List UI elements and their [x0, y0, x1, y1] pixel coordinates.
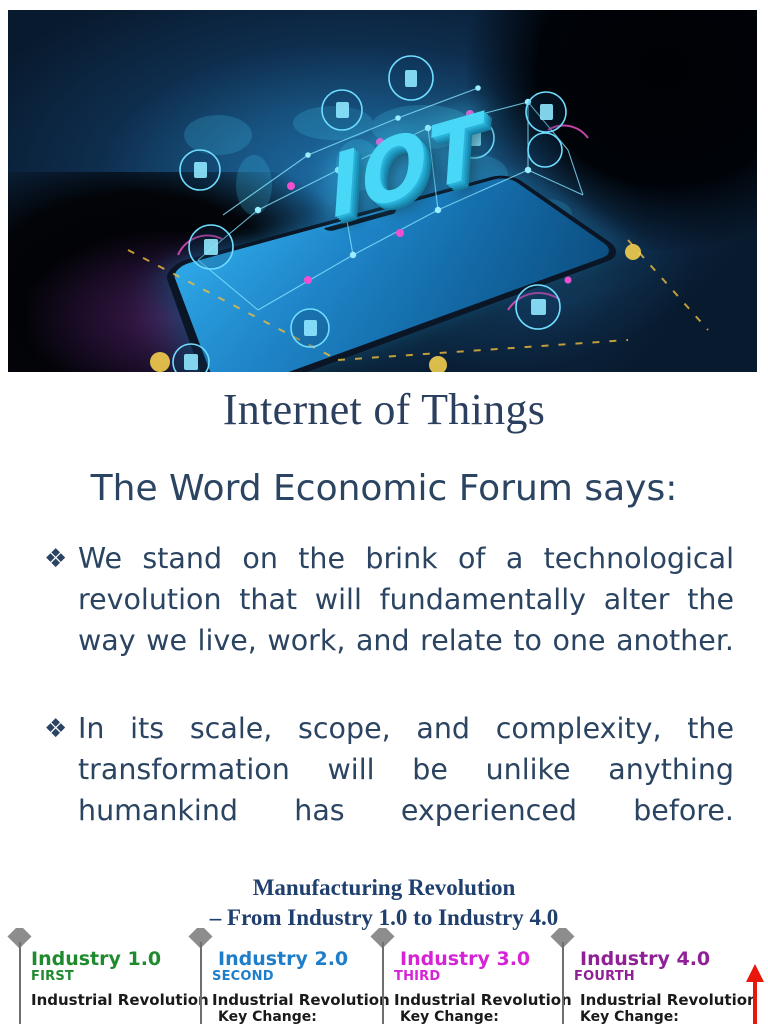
bullet-item: ❖ We stand on the brink of a technologic… — [44, 538, 734, 702]
red-up-arrow-icon — [745, 962, 765, 1024]
stage-key-change-label: Key Change: — [212, 1009, 392, 1024]
stage-ordinal: THIRD — [394, 970, 574, 984]
timeline-heading: Manufacturing Revolution – From Industry… — [0, 873, 768, 933]
iot-hero-image: IOT — [8, 10, 757, 372]
stage-ordinal: FOURTH — [574, 970, 754, 984]
stage-key-change-label: Key Change: — [574, 1009, 754, 1024]
timeline-stem — [19, 942, 22, 1024]
timeline-stem — [562, 942, 565, 1024]
stage-name: Industry 2.0 — [212, 948, 392, 970]
bullet-text: We stand on the brink of a technological… — [78, 538, 734, 702]
stage-ordinal: SECOND — [212, 970, 392, 984]
page-title: Internet of Things — [0, 384, 768, 435]
stage-name: Industry 4.0 — [574, 948, 754, 970]
diamond-bullet-icon: ❖ — [44, 708, 78, 750]
bullet-list: ❖ We stand on the brink of a technologic… — [44, 538, 734, 878]
timeline-stem — [382, 942, 385, 1024]
stage-revolution-label: Industrial Revolution — [31, 991, 211, 1009]
bullet-item: ❖ In its scale, scope, and complexity, t… — [44, 708, 734, 872]
page-subtitle: The Word Economic Forum says: — [0, 468, 768, 509]
slide-canvas: IOT Internet of Things The Word Economic… — [0, 0, 768, 1024]
stage-ordinal: FIRST — [31, 970, 211, 984]
stage-revolution-label: Industrial Revolution — [574, 991, 754, 1009]
stage-revolution-label: Industrial Revolution — [394, 991, 574, 1009]
diamond-bullet-icon: ❖ — [44, 538, 78, 580]
stage-name: Industry 1.0 — [31, 948, 211, 970]
timeline-stem — [200, 942, 203, 1024]
stage-revolution-label: Industrial Revolution — [212, 991, 392, 1009]
stage-key-change-label: Key Change: — [394, 1009, 574, 1024]
stage-name: Industry 3.0 — [394, 948, 574, 970]
bullet-text: In its scale, scope, and complexity, the… — [78, 708, 734, 872]
industry-timeline: Industry 1.0 FIRST Industrial Revolution… — [0, 928, 768, 1024]
timeline-heading-line-1: Manufacturing Revolution — [0, 873, 768, 903]
